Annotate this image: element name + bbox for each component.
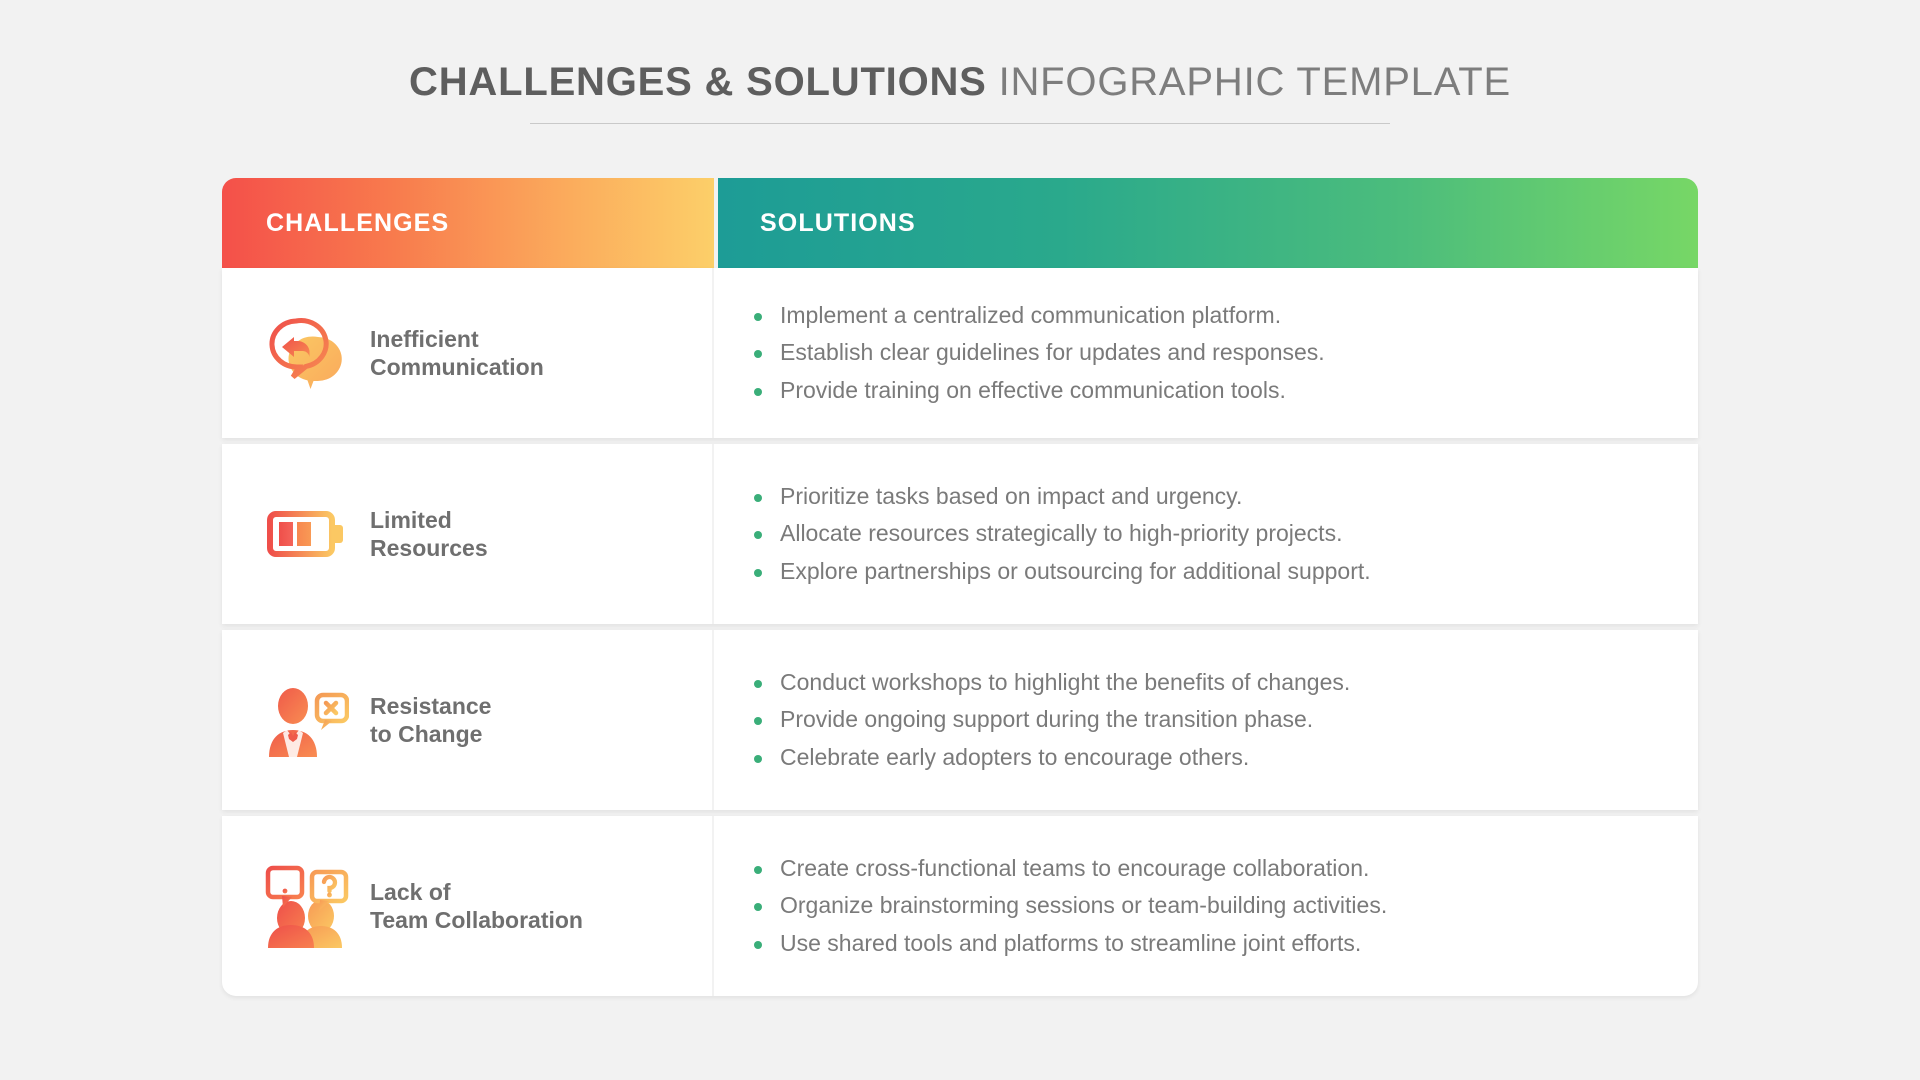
list-item: Explore partnerships or outsourcing for … [750, 553, 1371, 590]
page-title-bold: CHALLENGES & SOLUTIONS [409, 60, 987, 104]
challenge-label-line1: Resistance [370, 692, 491, 720]
solution-cell: Implement a centralized communication pl… [714, 268, 1698, 438]
page-title-block: CHALLENGES & SOLUTIONS INFOGRAPHIC TEMPL… [0, 60, 1920, 124]
list-item: Prioritize tasks based on impact and urg… [750, 478, 1371, 515]
solution-cell: Conduct workshops to highlight the benef… [714, 630, 1698, 810]
list-item: Use shared tools and platforms to stream… [750, 925, 1387, 962]
solution-list: Conduct workshops to highlight the benef… [750, 664, 1350, 776]
challenge-label-line1: Lack of [370, 878, 583, 906]
list-item: Allocate resources strategically to high… [750, 515, 1371, 552]
solution-list: Implement a centralized communication pl… [750, 297, 1325, 409]
list-item: Organize brainstorming sessions or team-… [750, 887, 1387, 924]
battery-low-icon [252, 506, 362, 562]
table-row: Lack of Team Collaboration Create cross-… [222, 816, 1698, 996]
page-title: CHALLENGES & SOLUTIONS INFOGRAPHIC TEMPL… [0, 60, 1920, 105]
challenge-label-line2: to Change [370, 720, 491, 748]
speech-bubble-reply-icon [252, 317, 362, 389]
header-cell-solutions: SOLUTIONS [718, 178, 1698, 268]
challenge-label-line2: Communication [370, 353, 544, 381]
challenge-label-line2: Resources [370, 534, 488, 562]
solution-cell: Prioritize tasks based on impact and urg… [714, 444, 1698, 624]
challenge-label: Limited Resources [370, 506, 488, 562]
table-row: Limited Resources Prioritize tasks based… [222, 444, 1698, 624]
list-item: Celebrate early adopters to encourage ot… [750, 739, 1350, 776]
list-item: Establish clear guidelines for updates a… [750, 334, 1325, 371]
header-label-challenges: CHALLENGES [266, 209, 449, 238]
solution-cell: Create cross-functional teams to encoura… [714, 816, 1698, 996]
challenge-cell: Inefficient Communication [222, 268, 714, 438]
list-item: Create cross-functional teams to encoura… [750, 850, 1387, 887]
challenge-cell: Limited Resources [222, 444, 714, 624]
page-title-light: INFOGRAPHIC TEMPLATE [987, 60, 1511, 104]
list-item: Conduct workshops to highlight the benef… [750, 664, 1350, 701]
title-divider [530, 123, 1390, 124]
person-rejecting-icon [252, 683, 362, 757]
header-cell-challenges: CHALLENGES [222, 178, 714, 268]
challenge-cell: Resistance to Change [222, 630, 714, 810]
solution-list: Prioritize tasks based on impact and urg… [750, 478, 1371, 590]
list-item: Implement a centralized communication pl… [750, 297, 1325, 334]
challenge-label-line2: Team Collaboration [370, 906, 583, 934]
challenge-label: Lack of Team Collaboration [370, 878, 583, 934]
challenges-solutions-table: CHALLENGES SOLUTIONS [222, 178, 1698, 996]
infographic-page: CHALLENGES & SOLUTIONS INFOGRAPHIC TEMPL… [0, 0, 1920, 1080]
table-row: Resistance to Change Conduct workshops t… [222, 630, 1698, 810]
solution-list: Create cross-functional teams to encoura… [750, 850, 1387, 962]
challenge-label: Resistance to Change [370, 692, 491, 748]
list-item: Provide ongoing support during the trans… [750, 701, 1350, 738]
table-header-row: CHALLENGES SOLUTIONS [222, 178, 1698, 268]
challenge-label-line1: Limited [370, 506, 488, 534]
challenge-cell: Lack of Team Collaboration [222, 816, 714, 996]
challenge-label-line1: Inefficient [370, 325, 544, 353]
two-people-confused-icon [252, 864, 362, 948]
list-item: Provide training on effective communicat… [750, 372, 1325, 409]
table-row: Inefficient Communication Implement a ce… [222, 268, 1698, 438]
table-body: Inefficient Communication Implement a ce… [222, 268, 1698, 996]
challenge-label: Inefficient Communication [370, 325, 544, 381]
header-label-solutions: SOLUTIONS [760, 209, 916, 238]
